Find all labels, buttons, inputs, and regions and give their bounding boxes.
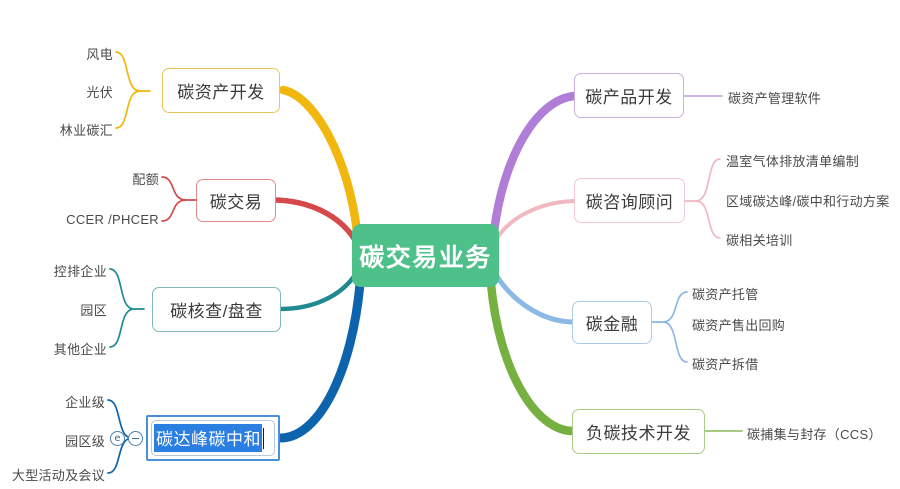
leaf-carbon-asset-dev-2[interactable]: 林业碳汇: [60, 120, 113, 139]
leaf-carbon-trading-0[interactable]: 配额: [132, 169, 159, 188]
leaf-carbon-consulting-2[interactable]: 碳相关培训: [726, 230, 793, 249]
leaf-label: 碳捕集与封存（CCS）: [747, 427, 882, 442]
leaf-label: 林业碳汇: [60, 123, 113, 138]
main-curve-carbon-peak-neutral: [281, 284, 360, 438]
leaf-carbon-finance-0[interactable]: 碳资产托管: [692, 284, 759, 303]
center-node-label: 碳交易业务: [359, 238, 492, 274]
expand-handle-icon[interactable]: e: [110, 431, 125, 446]
node-carbon-product-dev[interactable]: 碳产品开发: [574, 73, 684, 118]
leaf-carbon-verification-2[interactable]: 其他企业: [54, 339, 107, 358]
node-label-negative-carbon-tech: 负碳技术开发: [586, 419, 691, 444]
leaf-label: 碳资产管理软件: [728, 91, 821, 106]
main-curve-carbon-product-dev: [494, 96, 574, 232]
collapse-bar-icon: [132, 438, 139, 439]
main-curve-carbon-trading: [272, 200, 355, 240]
leaf-label: 其他企业: [54, 342, 107, 357]
leaf-label: 碳资产售出回购: [692, 318, 785, 333]
node-carbon-trading[interactable]: 碳交易: [196, 179, 276, 222]
leaf-negative-carbon-tech-0[interactable]: 碳捕集与封存（CCS）: [747, 424, 882, 443]
leaf-carbon-asset-dev-0[interactable]: 风电: [86, 44, 113, 63]
node-carbon-consulting[interactable]: 碳咨询顾问: [574, 178, 685, 223]
node-label-carbon-finance: 碳金融: [586, 310, 639, 335]
node-carbon-finance[interactable]: 碳金融: [572, 301, 652, 344]
node-label-carbon-verification: 碳核查/盘查: [170, 297, 263, 322]
main-curve-carbon-finance: [496, 275, 572, 322]
text-caret: [263, 428, 264, 449]
leaf-label: CCER /PHCER: [66, 212, 159, 227]
leaf-label: 区域碳达峰/碳中和行动方案: [726, 194, 890, 209]
leaf-label: 园区: [80, 303, 107, 318]
expand-glyph: e: [114, 434, 120, 444]
node-edit-frame[interactable]: 碳达峰碳中和: [151, 420, 275, 456]
subwire-carbon-trading-bracket: [162, 177, 196, 221]
center-node[interactable]: 碳交易业务: [352, 224, 499, 287]
leaf-label: 控排企业: [54, 264, 107, 279]
node-label-carbon-product-dev: 碳产品开发: [585, 83, 673, 108]
leaf-carbon-consulting-1[interactable]: 区域碳达峰/碳中和行动方案: [726, 191, 890, 210]
leaf-carbon-finance-2[interactable]: 碳资产拆借: [692, 354, 759, 373]
node-label-carbon-peak-neutral: 碳达峰碳中和: [154, 424, 262, 452]
mindmap-canvas: 碳交易业务 碳资产开发 碳交易 碳核查/盘查 碳达峰碳中和 e 碳产品开发 碳咨…: [0, 0, 900, 489]
main-curve-carbon-asset-dev: [283, 90, 357, 232]
main-curve-carbon-verification: [280, 275, 355, 309]
node-carbon-verification[interactable]: 碳核查/盘查: [152, 287, 281, 332]
leaf-carbon-finance-1[interactable]: 碳资产售出回购: [692, 315, 785, 334]
subwire-carbon-verification-bracket: [110, 269, 144, 347]
leaf-label: 碳资产托管: [692, 287, 759, 302]
subwire-carbon-finance-bracket: [652, 292, 687, 362]
leaf-label: 园区级: [65, 434, 105, 449]
leaf-carbon-verification-0[interactable]: 控排企业: [54, 261, 107, 280]
leaf-label: 风电: [86, 47, 113, 62]
leaf-label: 碳资产拆借: [692, 357, 759, 372]
leaf-carbon-peak-neutral-0[interactable]: 企业级: [65, 392, 105, 411]
leaf-label: 大型活动及会议: [12, 468, 105, 483]
leaf-label: 光伏: [86, 85, 113, 100]
leaf-carbon-peak-neutral-1[interactable]: 园区级: [65, 431, 105, 450]
leaf-label: 碳相关培训: [726, 233, 793, 248]
leaf-label: 配额: [132, 172, 159, 187]
leaf-carbon-peak-neutral-2[interactable]: 大型活动及会议: [12, 465, 105, 484]
main-curve-negative-carbon-tech: [491, 284, 572, 431]
leaf-carbon-consulting-0[interactable]: 温室气体排放清单编制: [726, 151, 859, 170]
leaf-carbon-product-dev-0[interactable]: 碳资产管理软件: [728, 88, 821, 107]
node-negative-carbon-tech[interactable]: 负碳技术开发: [572, 409, 705, 454]
subwire-carbon-consulting-bracket: [685, 159, 720, 238]
leaf-label: 企业级: [65, 395, 105, 410]
node-label-carbon-asset-dev: 碳资产开发: [177, 78, 265, 103]
leaf-carbon-asset-dev-1[interactable]: 光伏: [86, 82, 113, 101]
main-curve-carbon-consulting: [496, 201, 574, 240]
subwire-carbon-asset-dev-bracket: [116, 52, 150, 128]
collapse-handle-icon[interactable]: [128, 431, 143, 446]
node-label-carbon-consulting: 碳咨询顾问: [586, 188, 674, 213]
leaf-carbon-trading-1[interactable]: CCER /PHCER: [66, 212, 159, 227]
node-carbon-peak-neutral-selected[interactable]: 碳达峰碳中和: [146, 415, 280, 461]
leaf-carbon-verification-1[interactable]: 园区: [80, 300, 107, 319]
node-carbon-asset-dev[interactable]: 碳资产开发: [162, 68, 280, 113]
node-label-carbon-trading: 碳交易: [210, 188, 263, 213]
leaf-label: 温室气体排放清单编制: [726, 154, 859, 169]
